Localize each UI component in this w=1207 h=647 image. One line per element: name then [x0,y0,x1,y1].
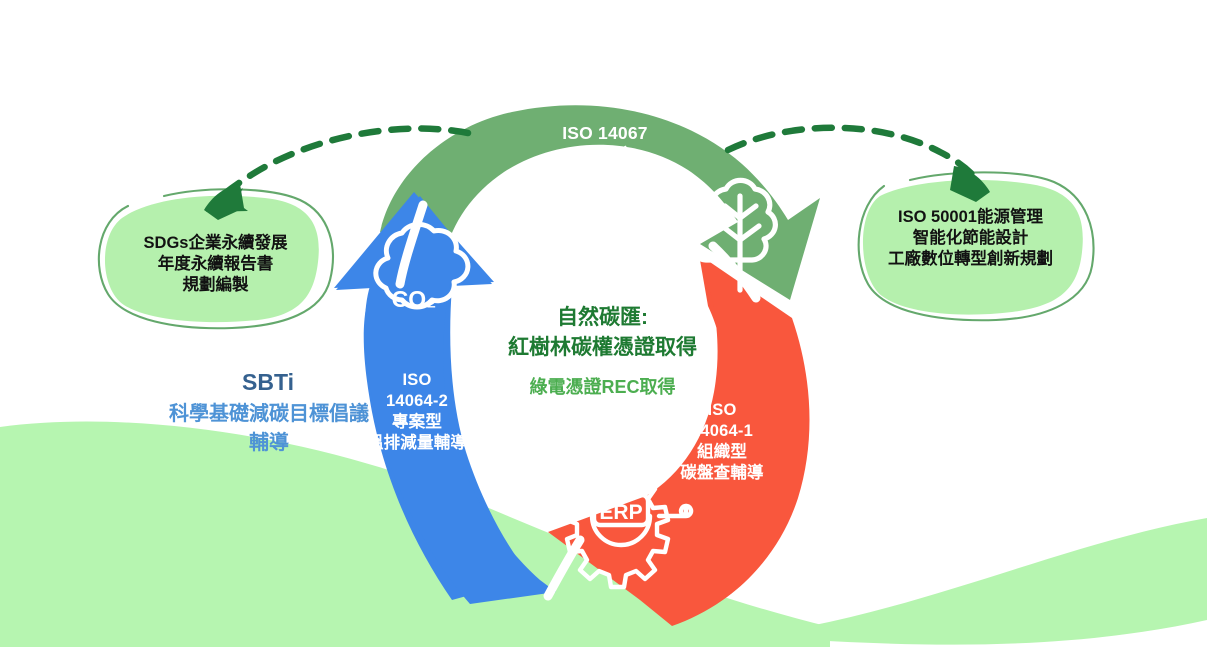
svg-text:ERP: ERP [599,501,642,524]
erp-gear-icon: ERP [0,0,1207,647]
infographic-canvas: CO₂ ERP ISO 14067 碳足跡 ISO 14068-1 碳中和 IS… [0,0,1207,647]
